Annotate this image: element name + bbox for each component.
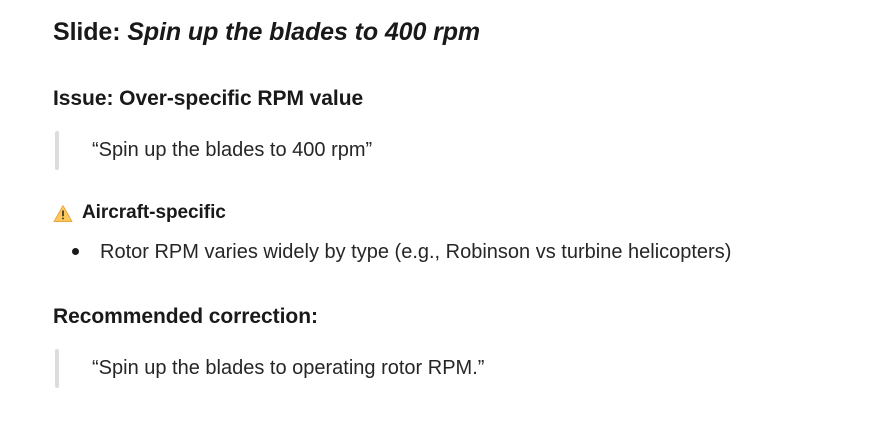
recommendation-quote-block: “Spin up the blades to operating rotor R… bbox=[53, 345, 867, 392]
slide-title-prefix: Slide: bbox=[53, 18, 120, 46]
list-item-label: Rotor RPM varies widely by type (e.g., R… bbox=[100, 241, 731, 263]
quote-accent-bar bbox=[55, 349, 59, 388]
page-title: Slide: Spin up the blades to 400 rpm bbox=[53, 0, 867, 48]
issue-quote-text: “Spin up the blades to 400 rpm” bbox=[92, 139, 372, 161]
issue-quote-block: “Spin up the blades to 400 rpm” bbox=[53, 127, 867, 174]
slide-title-emphasis: Spin up the blades to 400 rpm bbox=[127, 18, 480, 46]
warning-row: Aircraft-specific bbox=[53, 174, 867, 225]
bullet-dot-icon bbox=[72, 248, 79, 255]
recommendation-heading: Recommended correction: bbox=[53, 266, 867, 330]
warning-label: Aircraft-specific bbox=[82, 202, 226, 225]
review-note-page: Slide: Spin up the blades to 400 rpm Iss… bbox=[0, 0, 887, 445]
quote-accent-bar bbox=[55, 131, 59, 170]
warning-triangle-icon bbox=[53, 204, 73, 224]
issue-bullet-list: Rotor RPM varies widely by type (e.g., R… bbox=[53, 224, 867, 266]
recommendation-quote-text: “Spin up the blades to operating rotor R… bbox=[92, 357, 484, 379]
list-item: Rotor RPM varies widely by type (e.g., R… bbox=[53, 238, 867, 266]
issue-heading: Issue: Over-specific RPM value bbox=[53, 48, 867, 112]
